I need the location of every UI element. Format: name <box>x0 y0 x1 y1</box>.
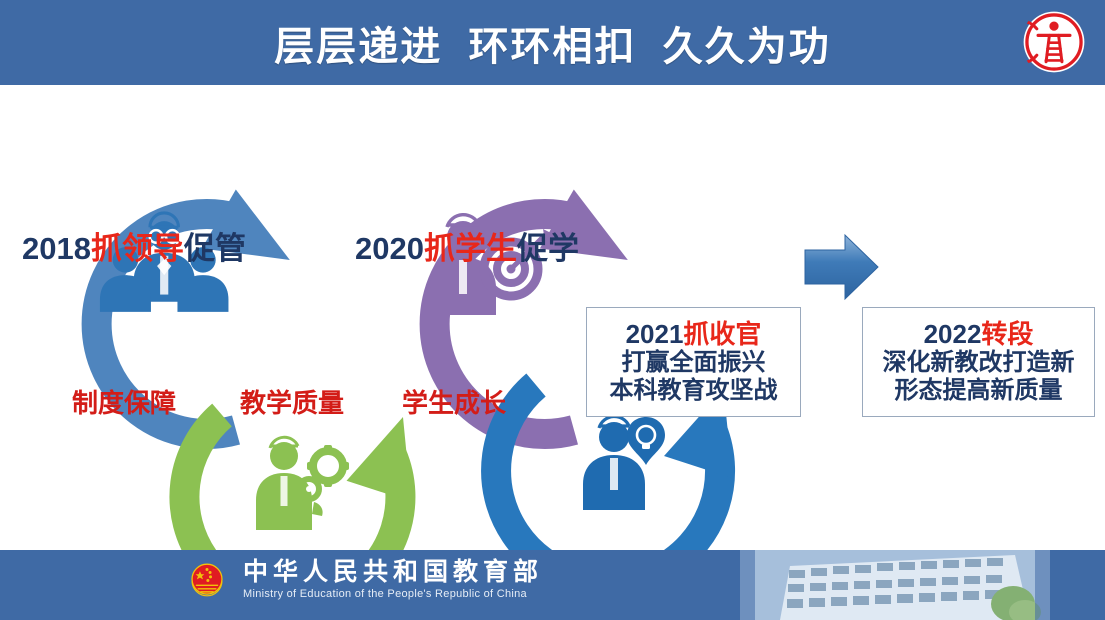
info-box-2021-year: 2021 <box>626 319 684 349</box>
stage-label-2020: 2020抓学生促学 <box>355 233 579 264</box>
right-block-arrow-icon <box>805 235 878 299</box>
slide-body: 2018抓领导促管 2020抓学生促学 2019抓教师促教 制度保障 教学质量 … <box>0 85 1105 550</box>
info-box-2021-line-2: 本科教育攻坚战 <box>610 377 778 404</box>
info-box-2022-line-2: 形态提高新质量 <box>895 377 1063 404</box>
info-box-2022-line-1: 深化新教改打造新 <box>883 349 1075 376</box>
arc-inner-label-teaching-quality: 教学质量 <box>240 390 344 416</box>
stage-tail-2018: 促管 <box>184 231 246 266</box>
info-box-2021-highlight: 抓收官 <box>683 319 761 349</box>
page-title: 层层递进 环环相扣 久久为功 <box>274 14 830 72</box>
footer-brand: 中华人民共和国教育部 Ministry of Education of the … <box>185 558 543 602</box>
info-box-2021-line-1: 打赢全面振兴 <box>622 349 766 376</box>
info-box-2022-highlight: 转段 <box>981 319 1033 349</box>
stage-year-2020: 2020 <box>355 231 424 266</box>
info-box-2021-heading: 2021抓收官 <box>626 320 762 349</box>
arc-inner-label-student-growth: 学生成长 <box>402 390 506 416</box>
info-box-2022-heading: 2022转段 <box>924 320 1034 349</box>
national-emblem-icon <box>185 558 229 602</box>
stage-label-2018: 2018抓领导促管 <box>22 233 246 264</box>
slide-title-bar: 层层递进 环环相扣 久久为功 <box>0 0 1105 85</box>
arc-inner-label-system-guarantee: 制度保障 <box>72 390 176 416</box>
stage-tail-2020: 促学 <box>517 231 579 266</box>
stage-highlight-2018: 抓领导 <box>91 231 184 266</box>
footer-org-cn: 中华人民共和国教育部 <box>243 559 543 587</box>
slide-footer: 中华人民共和国教育部 Ministry of Education of the … <box>0 550 1105 620</box>
stage-year-2018: 2018 <box>22 231 91 266</box>
info-box-2022[interactable]: 2022转段 深化新教改打造新 形态提高新质量 <box>862 307 1095 417</box>
teacher-gears-icon <box>256 437 349 530</box>
person-lightbulb-icon <box>583 416 665 510</box>
info-box-2021[interactable]: 2021抓收官 打赢全面振兴 本科教育攻坚战 <box>586 307 801 417</box>
footer-org-en: Ministry of Education of the People's Re… <box>243 588 543 601</box>
stage-highlight-2020: 抓学生 <box>424 231 517 266</box>
building-photo <box>685 550 1105 620</box>
university-crest-icon <box>1021 9 1087 75</box>
info-box-2022-year: 2022 <box>924 319 982 349</box>
